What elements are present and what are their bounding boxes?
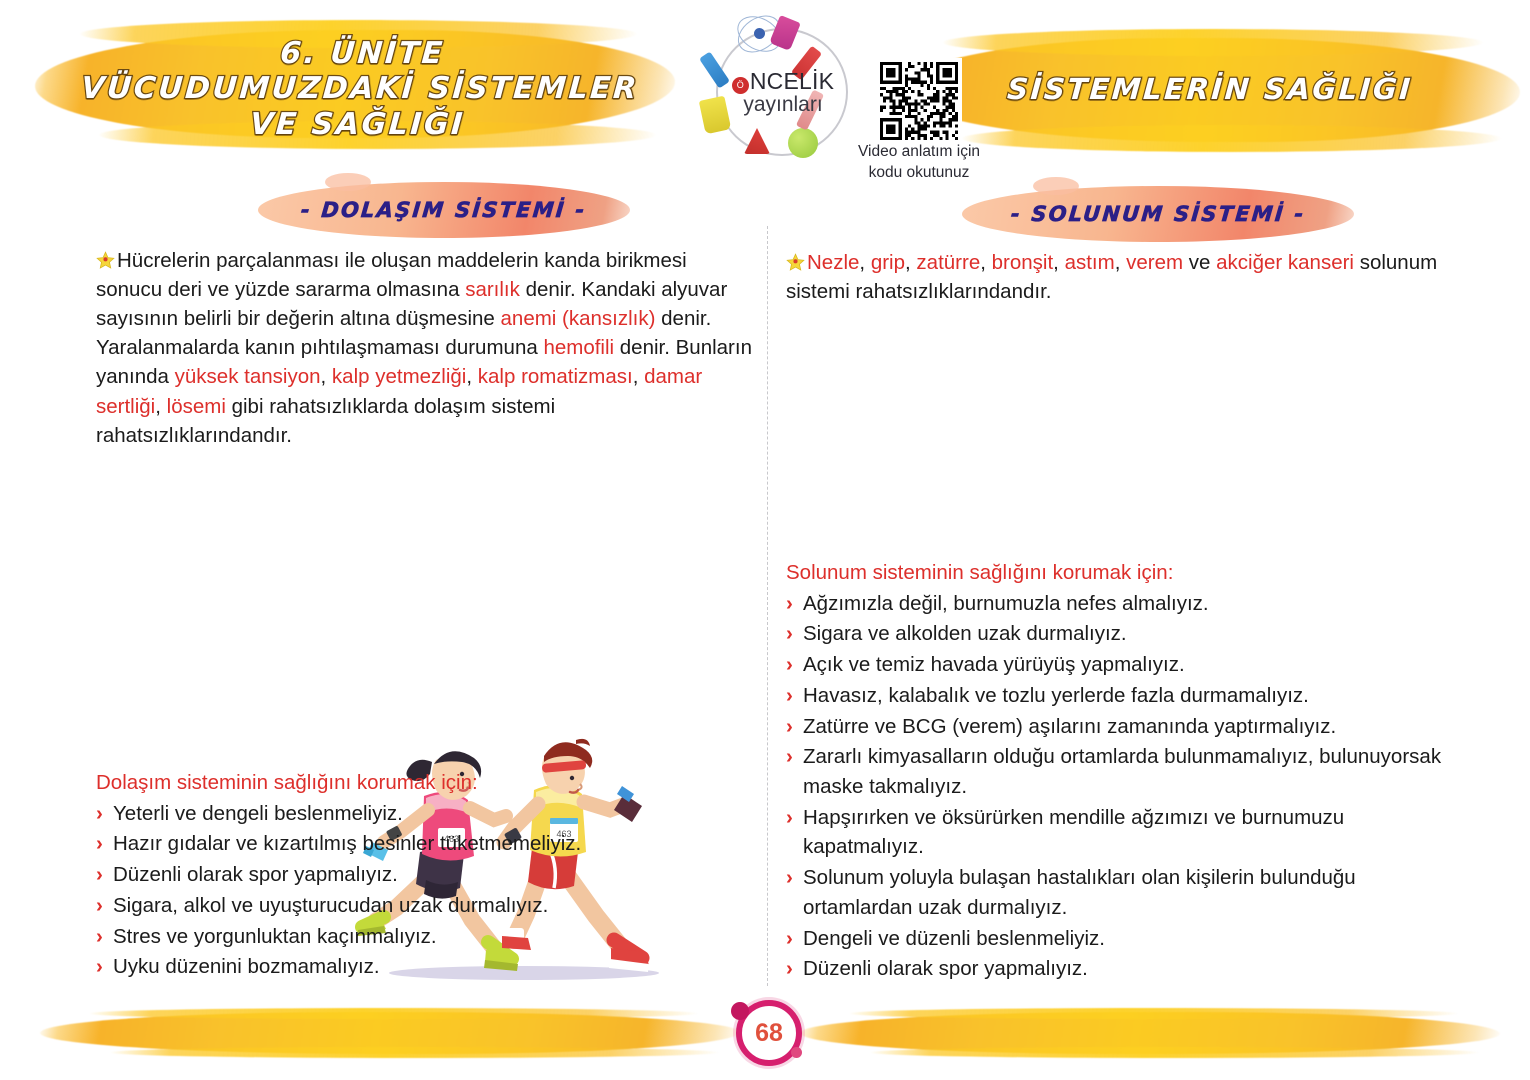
list-item: ›Düzenli olarak spor yapmalıyız.	[96, 860, 736, 890]
chevron-right-icon: ›	[786, 863, 793, 893]
list-item-text: Uyku düzenini bozmamalıyız.	[113, 955, 380, 978]
footer-brush-left	[40, 1012, 740, 1054]
qr-code-canvas	[880, 62, 958, 140]
circulatory-tips-list: ›Yeterli ve dengeli beslenmeliyiz.›Hazır…	[96, 799, 736, 982]
respiratory-list-heading: Solunum sisteminin sağlığını korumak içi…	[786, 558, 1458, 588]
logo-brand-name: ÖNCELİK	[720, 68, 846, 95]
list-item: ›Solunum yoluyla bulaşan hastalıkları ol…	[786, 863, 1458, 922]
list-item-text: Ağzımızla değil, burnumuzla nefes almalı…	[803, 592, 1209, 615]
list-item: ›Hapşırırken ve öksürürken mendille ağzı…	[786, 803, 1458, 862]
list-item-text: Dengeli ve düzenli beslenmeliyiz.	[803, 927, 1105, 950]
list-item: ›Stres ve yorgunluktan kaçınmalıyız.	[96, 922, 736, 952]
circulatory-paragraph: Hücrelerin parçalanması ile oluşan madde…	[96, 246, 756, 450]
flask-icon-green	[788, 128, 818, 158]
respiratory-tips-list: ›Ağzımızla değil, burnumuzla nefes almal…	[786, 589, 1458, 984]
left-column: Hücrelerin parçalanması ile oluşan madde…	[96, 246, 756, 450]
paragraph-run: ,	[466, 365, 477, 388]
respiratory-paragraph-text: Nezle, grip, zatürre, bronşit, astım, ve…	[786, 251, 1437, 303]
list-item: ›Havasız, kalabalık ve tozlu yerlerde fa…	[786, 681, 1458, 711]
chevron-right-icon: ›	[786, 681, 793, 711]
circulatory-list-heading: Dolaşım sisteminin sağlığını korumak içi…	[96, 768, 736, 798]
star-icon	[96, 251, 115, 270]
page-number: 68	[736, 1000, 802, 1066]
list-item-text: Yeterli ve dengeli beslenmeliyiz.	[113, 802, 403, 825]
highlighted-term: grip	[871, 251, 905, 274]
right-column: Nezle, grip, zatürre, bronşit, astım, ve…	[786, 248, 1458, 306]
unit-title-block: 6. ÜNİTE VÜCUDUMUZDAKİ SİSTEMLER VE SAĞL…	[56, 36, 663, 142]
qr-caption-line2: kodu okutunuz	[828, 163, 1010, 184]
qr-caption: Video anlatım için kodu okutunuz	[828, 142, 1010, 184]
chevron-right-icon: ›	[786, 924, 793, 954]
highlighted-term: kalp romatizması	[478, 365, 633, 388]
list-item: ›Yeterli ve dengeli beslenmeliyiz.	[96, 799, 736, 829]
list-item: ›Açık ve temiz havada yürüyüş yapmalıyız…	[786, 650, 1458, 680]
list-item-text: Hapşırırken ve öksürürken mendille ağzım…	[803, 806, 1344, 859]
circulatory-paragraph-text: Hücrelerin parçalanması ile oluşan madde…	[96, 249, 752, 447]
list-item-text: Hazır gıdalar ve kızartılmış besinler tü…	[113, 832, 581, 855]
chevron-right-icon: ›	[96, 891, 103, 921]
highlighted-term: akciğer kanseri	[1216, 251, 1354, 274]
list-item-text: Düzenli olarak spor yapmalıyız.	[803, 957, 1088, 980]
section-header-circulatory-label: - DOLAŞIM SİSTEMİ -	[300, 198, 587, 222]
section-header-respiratory: - SOLUNUM SİSTEMİ -	[962, 186, 1354, 242]
list-item-text: Sigara, alkol ve uyuşturucudan uzak durm…	[113, 894, 548, 917]
list-item-text: Düzenli olarak spor yapmalıyız.	[113, 863, 398, 886]
paragraph-run: ,	[1053, 251, 1064, 274]
list-item: ›Düzenli olarak spor yapmalıyız.	[786, 954, 1458, 984]
list-item-text: Solunum yoluyla bulaşan hastalıkları ola…	[803, 866, 1356, 919]
list-item: ›Zatürre ve BCG (verem) aşılarını zamanı…	[786, 712, 1458, 742]
highlighted-term: verem	[1126, 251, 1183, 274]
chevron-right-icon: ›	[786, 742, 793, 772]
column-divider	[767, 226, 768, 986]
chevron-right-icon: ›	[786, 712, 793, 742]
paragraph-run: ,	[633, 365, 644, 388]
unit-title-line1: VÜCUDUMUZDAKİ SİSTEMLER	[59, 71, 661, 106]
logo-brand-rest: NCELİK	[750, 68, 834, 94]
section-header-respiratory-label: - SOLUNUM SİSTEMİ -	[1010, 202, 1307, 226]
highlighted-term: hemofili	[543, 336, 614, 359]
list-item: ›Dengeli ve düzenli beslenmeliyiz.	[786, 924, 1458, 954]
logo-text: ÖNCELİK yayınları	[720, 68, 846, 117]
section-header-circulatory: - DOLAŞIM SİSTEMİ -	[258, 182, 630, 238]
highlighted-term: sarılık	[465, 278, 520, 301]
chevron-right-icon: ›	[786, 650, 793, 680]
list-item: ›Uyku düzenini bozmamalıyız.	[96, 952, 736, 982]
list-item-text: Açık ve temiz havada yürüyüş yapmalıyız.	[803, 653, 1185, 676]
highlighted-term: astım	[1065, 251, 1115, 274]
highlighted-term: anemi (kansızlık)	[501, 307, 656, 330]
paragraph-run: ,	[905, 251, 916, 274]
logo-brand-sub: yayınları	[720, 93, 846, 117]
paragraph-run: ,	[1115, 251, 1126, 274]
list-item-text: Sigara ve alkolden uzak durmalıyız.	[803, 622, 1127, 645]
chevron-right-icon: ›	[786, 803, 793, 833]
paragraph-run: ve	[1183, 251, 1216, 274]
chevron-right-icon: ›	[96, 922, 103, 952]
list-item: ›Ağzımızla değil, burnumuzla nefes almal…	[786, 589, 1458, 619]
paragraph-run: ,	[321, 365, 332, 388]
highlighted-term: Nezle	[807, 251, 859, 274]
unit-title-line2: VE SAĞLIĞI	[56, 107, 658, 142]
page-number-badge: 68	[736, 1000, 802, 1066]
highlighted-term: lösemi	[167, 395, 226, 418]
chevron-right-icon: ›	[96, 860, 103, 890]
header-right-title: SİSTEMLERİN SAĞLIĞI	[914, 72, 1506, 106]
highlighted-term: bronşit	[992, 251, 1054, 274]
respiratory-paragraph: Nezle, grip, zatürre, bronşit, astım, ve…	[786, 248, 1458, 306]
list-item: ›Sigara, alkol ve uyuşturucudan uzak dur…	[96, 891, 736, 921]
paragraph-run: ,	[980, 251, 991, 274]
footer-brush-right	[800, 1012, 1500, 1054]
chevron-right-icon: ›	[96, 952, 103, 982]
chevron-right-icon: ›	[96, 799, 103, 829]
paragraph-run: ,	[155, 395, 166, 418]
list-item-text: Stres ve yorgunluktan kaçınmalıyız.	[113, 925, 437, 948]
chevron-right-icon: ›	[786, 589, 793, 619]
highlighted-term: kalp yetmezliği	[332, 365, 466, 388]
list-item-text: Zararlı kimyasalların olduğu ortamlarda …	[803, 745, 1441, 798]
list-item: ›Zararlı kimyasalların olduğu ortamlarda…	[786, 742, 1458, 801]
list-item: ›Hazır gıdalar ve kızartılmış besinler t…	[96, 829, 736, 859]
unit-label: 6. ÜNİTE	[61, 36, 663, 71]
chevron-right-icon: ›	[786, 954, 793, 984]
list-item-text: Zatürre ve BCG (verem) aşılarını zamanın…	[803, 715, 1336, 738]
star-icon	[786, 253, 805, 272]
highlighted-term: zatürre	[916, 251, 980, 274]
list-item-text: Havasız, kalabalık ve tozlu yerlerde faz…	[803, 684, 1309, 707]
chevron-right-icon: ›	[786, 619, 793, 649]
logo-o-mark: Ö	[732, 77, 749, 94]
chevron-right-icon: ›	[96, 829, 103, 859]
qr-caption-line1: Video anlatım için	[828, 142, 1010, 163]
qr-code[interactable]	[876, 58, 962, 144]
highlighted-term: yüksek tansiyon	[175, 365, 321, 388]
paragraph-run: ,	[859, 251, 870, 274]
list-item: ›Sigara ve alkolden uzak durmalıyız.	[786, 619, 1458, 649]
worksheet-page: 6. ÜNİTE VÜCUDUMUZDAKİ SİSTEMLER VE SAĞL…	[0, 0, 1530, 1080]
